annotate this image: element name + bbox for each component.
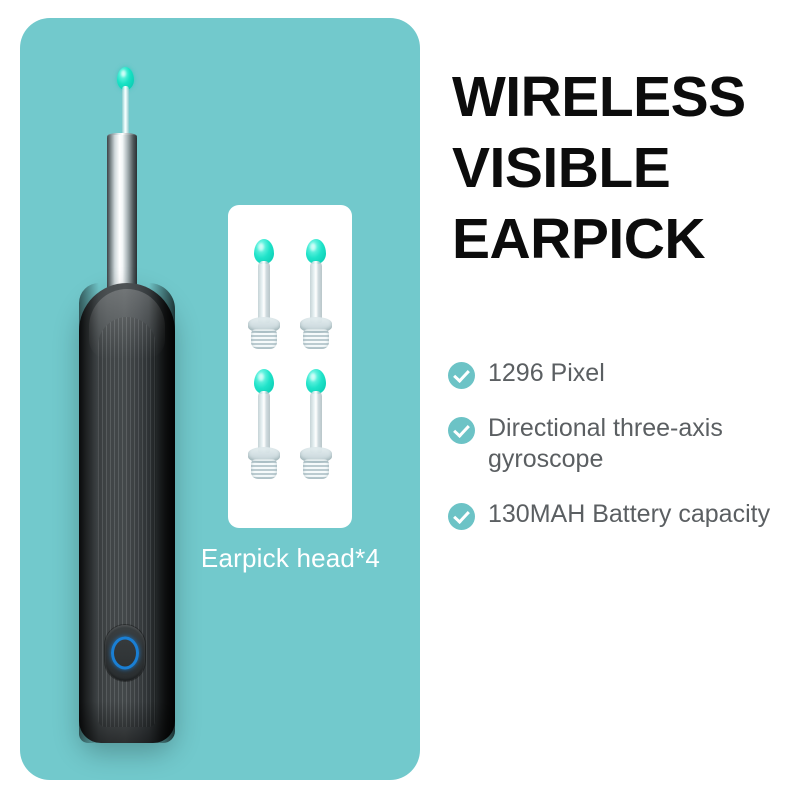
earpick-head-base — [303, 329, 329, 349]
handle-bottom-shading — [79, 701, 175, 743]
check-circle-icon — [448, 417, 475, 444]
feature-label: 130MAH Battery capacity — [488, 499, 770, 530]
handle-right-shading — [149, 283, 175, 743]
earpick-head-shaft — [310, 261, 322, 323]
headline-line-2: VISIBLE — [452, 133, 782, 204]
headline-block: WIRELESS VISIBLE EARPICK — [452, 62, 782, 275]
check-circle-icon — [448, 503, 475, 530]
earpick-head-item — [241, 239, 287, 357]
power-indicator-icon — [111, 637, 139, 670]
earpick-head-item — [293, 239, 339, 357]
feature-label: 1296 Pixel — [488, 358, 605, 389]
handle-left-shading — [79, 283, 99, 743]
metal-shaft — [107, 135, 137, 300]
earpick-heads-grid — [228, 205, 352, 528]
earpick-head-shaft — [310, 391, 322, 453]
earpick-head-item — [241, 369, 287, 487]
headline-line-1: WIRELESS — [452, 62, 782, 133]
earpick-head-shaft — [258, 391, 270, 453]
headline-line-3: EARPICK — [452, 204, 782, 275]
check-circle-icon — [448, 362, 475, 389]
product-promo-image: Earpick head*4 WIRELESS VISIBLE EARPICK … — [0, 0, 800, 800]
earpick-head-tip-icon — [306, 369, 326, 394]
device-handle — [79, 283, 175, 743]
handle-highlight — [89, 289, 165, 359]
earpick-heads-caption: Earpick head*4 — [178, 543, 403, 574]
earpick-head-tip-icon — [254, 369, 274, 394]
feature-item: 1296 Pixel — [448, 358, 788, 389]
earpick-head-shaft — [258, 261, 270, 323]
feature-label: Directional three-axis gyroscope — [488, 413, 788, 475]
earpick-head-base — [251, 329, 277, 349]
feature-item: 130MAH Battery capacity — [448, 499, 788, 530]
earpick-heads-card — [228, 205, 352, 528]
earpick-head-item — [293, 369, 339, 487]
page-title: WIRELESS VISIBLE EARPICK — [452, 62, 782, 275]
power-button[interactable] — [105, 625, 145, 681]
feature-item: Directional three-axis gyroscope — [448, 413, 788, 475]
earpick-head-base — [303, 459, 329, 479]
feature-list: 1296 Pixel Directional three-axis gyrosc… — [448, 358, 788, 554]
earpick-head-base — [251, 459, 277, 479]
earpick-device-illustration — [62, 55, 192, 755]
